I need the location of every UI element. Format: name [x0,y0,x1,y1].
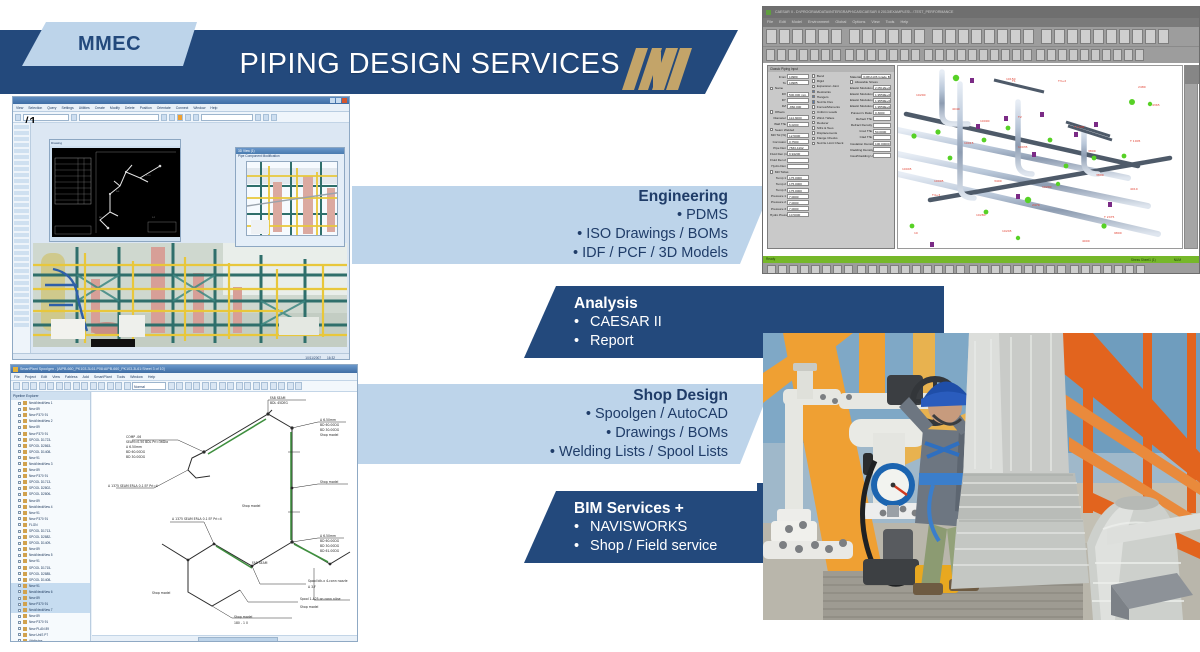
pdms-tree-line[interactable] [14,185,29,189]
pdms-iso-drawing-window[interactable]: Drawing [49,139,181,242]
toolbar-icon[interactable] [1058,49,1067,61]
expand-icon[interactable] [18,542,21,545]
maximize-icon[interactable] [336,98,341,103]
pdms-application-window[interactable]: ViewSelectionQuerySettingsUtilitiesCreat… [12,96,350,360]
checkbox-icon[interactable] [812,137,815,140]
toolbar-icon[interactable] [875,29,886,44]
toolbar-icon[interactable] [227,382,234,390]
pdms-menu-delete[interactable]: Delete [125,104,135,112]
pdms-menu-selection[interactable]: Selection [28,104,42,112]
toolbar-icon[interactable] [1041,29,1052,44]
toolbar-icon[interactable] [1145,29,1156,44]
toolbar-icon[interactable] [1103,265,1112,275]
maximize-icon[interactable] [1178,10,1184,15]
piping-input-field-value[interactable]: 7833.4192 [787,145,809,150]
expand-icon[interactable] [18,499,21,502]
toolbar-icon[interactable] [1067,29,1078,44]
toolbar-icon[interactable] [30,382,37,390]
toolbar-icon[interactable] [193,114,199,121]
expand-icon[interactable] [18,627,21,630]
pdms-tree-line[interactable] [14,191,29,195]
spoolgen-tool-bar[interactable]: Normal [11,381,357,392]
toolbar-icon[interactable] [879,265,888,275]
piping-input-checkbox[interactable]: Nozzle Limit Check [812,141,848,145]
toolbar-icon[interactable] [900,49,909,61]
pdms-menu-utilities[interactable]: Utilities [79,104,90,112]
caesar-title-bar[interactable]: CAESAR II - D:\PROGRAMDATA\INTERGRAPH\CA… [763,7,1199,18]
toolbar-icon[interactable] [1057,265,1066,275]
caesar-ii-application-window[interactable]: CAESAR II - D:\PROGRAMDATA\INTERGRAPH\CA… [762,6,1200,274]
classic-piping-input-dialog[interactable]: Classic Piping Input From10980To10985Nam… [767,65,895,249]
caesar-tool-bar-primary[interactable] [763,27,1199,47]
toolbar-icon[interactable] [1113,49,1122,61]
toolbar-icon[interactable] [255,114,261,121]
caesar-menu-global[interactable]: Global [835,18,846,27]
scrollbar-thumb[interactable] [198,637,278,642]
piping-input-property-column[interactable]: Material(106)A106 Grade BAllowable Stres… [850,74,892,217]
checkbox-icon[interactable] [812,90,815,93]
toolbar-icon[interactable] [1093,29,1104,44]
toolbar-icon[interactable] [868,265,877,275]
expand-icon[interactable] [18,578,21,581]
toolbar-icon[interactable] [1047,49,1056,61]
toolbar-icon[interactable] [766,29,777,44]
toolbar-icon[interactable] [778,265,787,275]
toolbar-icon[interactable] [911,49,920,61]
toolbar-icon[interactable] [1069,49,1078,61]
spoolgen-tree-item[interactable]: Attributes [11,638,90,642]
pdms-3d-model-view[interactable] [33,243,347,347]
caesar-menu-edit[interactable]: Edit [779,18,786,27]
toolbar-icon[interactable] [901,29,912,44]
piping-input-field-value[interactable]: 12.5000 [787,133,809,138]
toolbar-icon[interactable] [818,29,829,44]
toolbar-icon[interactable] [991,265,1000,275]
expand-icon[interactable] [18,511,21,514]
checkbox-icon[interactable] [770,87,773,90]
toolbar-icon[interactable] [261,382,268,390]
toolbar-icon[interactable] [767,265,776,275]
toolbar-icon[interactable] [946,49,955,61]
spoolgen-tree-body[interactable]: NeckNeckNew 1New 89New P370 91NeckNeckNe… [11,400,90,642]
pdms-tree-line[interactable] [14,305,29,309]
piping-input-field-value[interactable]: 10980 [787,74,809,79]
piping-input-field-value[interactable]: 10985 [787,80,809,85]
toolbar-icon[interactable] [971,29,982,44]
toolbar-icon[interactable] [1023,49,1032,61]
toolbar-icon[interactable] [800,265,809,275]
toolbar-icon[interactable] [1135,49,1144,61]
piping-input-field-value[interactable]: 10.5000 [787,212,809,217]
toolbar-icon[interactable] [1046,265,1055,275]
toolbar-icon[interactable] [980,265,989,275]
close-icon[interactable] [1189,10,1195,15]
caesar-tool-bar-secondary[interactable] [763,47,1199,63]
pdms-tree-line[interactable] [14,221,29,225]
toolbar-icon[interactable] [124,382,131,390]
minimize-icon[interactable] [330,98,335,103]
toolbar-icon[interactable] [1132,29,1143,44]
toolbar-icon[interactable] [185,114,191,121]
toolbar-icon[interactable] [56,382,63,390]
pdms-menu-help[interactable]: Help [210,104,217,112]
piping-input-field-value[interactable]: -860.000 mm. [787,104,809,109]
caesar-3d-viewport[interactable]: 1015010200 T1T3+2 24804365 404010090 T2T… [897,65,1183,249]
toolbar-icon[interactable] [924,49,933,61]
pdms-tree-line[interactable] [14,317,29,321]
piping-input-field-value[interactable]: 114.3000 [787,115,809,120]
toolbar-icon[interactable] [831,29,842,44]
expand-icon[interactable] [18,402,21,405]
toolbar-icon[interactable] [1013,265,1022,275]
caesar-bottom-tool-strip[interactable] [763,263,1199,274]
pdms-3d-view-canvas[interactable] [246,161,338,236]
piping-input-field-value[interactable] [873,135,891,140]
toolbar-icon[interactable] [822,265,831,275]
toolbar-icon[interactable] [958,29,969,44]
toolbar-icon[interactable] [1012,49,1021,61]
pdms-explorer-tree[interactable] [13,123,31,360]
toolbar-icon[interactable] [1125,265,1134,275]
toolbar-icon[interactable] [115,382,122,390]
callout-shop-design[interactable]: Shop Design • Spoolgen / AutoCAD • Drawi… [352,384,772,464]
caesar-menu-file[interactable]: File [767,18,773,27]
pdms-tree-line[interactable] [14,209,29,213]
pdms-menu-query[interactable]: Query [47,104,56,112]
expand-icon[interactable] [18,505,21,508]
expand-icon[interactable] [18,432,21,435]
piping-input-field-value[interactable]: 6.0200 [787,122,809,127]
piping-input-field-value[interactable] [873,123,891,128]
expand-icon[interactable] [18,408,21,411]
caesar-menu-help[interactable]: Help [900,18,908,27]
expand-icon[interactable] [18,517,21,520]
piping-input-checkbox[interactable]: Flange Checks [812,136,848,140]
toolbar-icon[interactable] [193,382,200,390]
spoolgen-menu-help[interactable]: Help [148,373,155,381]
toolbar-icon[interactable] [1102,49,1111,61]
toolbar-icon[interactable] [22,382,29,390]
pdms-name-field[interactable] [79,114,159,121]
piping-input-field-value[interactable]: 0.3000 [873,110,891,115]
close-icon[interactable] [342,98,347,103]
checkbox-icon[interactable] [812,121,815,124]
toolbar-icon[interactable] [923,265,932,275]
caesar-menu-environment[interactable]: Environment [808,18,829,27]
toolbar-icon[interactable] [979,49,988,61]
piping-input-checkbox[interactable]: Bend [812,74,848,78]
piping-input-checkbox[interactable]: Wind / Wave [812,116,848,120]
toolbar-icon[interactable] [1024,265,1033,275]
toolbar-icon[interactable] [161,114,167,121]
checkbox-icon[interactable] [770,110,773,113]
toolbar-icon[interactable] [64,382,71,390]
expand-icon[interactable] [18,584,21,587]
expand-icon[interactable] [18,621,21,624]
piping-input-material-value[interactable]: (106)A106 Grade B [861,74,891,79]
toolbar-icon[interactable] [1036,49,1045,61]
pdms-3d-view-titlebar[interactable]: 3D View (1) [236,148,344,154]
toolbar-icon[interactable] [857,265,866,275]
expand-icon[interactable] [18,420,21,423]
expand-icon[interactable] [18,536,21,539]
toolbar-icon[interactable] [107,382,114,390]
toolbar-icon[interactable] [997,29,1008,44]
expand-icon[interactable] [18,438,21,441]
toolbar-icon[interactable] [1080,29,1091,44]
piping-input-field-value[interactable] [873,147,891,152]
toolbar-icon[interactable] [81,382,88,390]
toolbar-icon[interactable] [1091,49,1100,61]
checkbox-icon[interactable] [770,128,773,131]
piping-input-checkbox[interactable]: Nozzle Flex [812,100,848,104]
toolbar-icon[interactable] [244,382,251,390]
toolbar-icon[interactable] [777,49,786,61]
expand-icon[interactable] [18,633,21,636]
toolbar-icon[interactable] [934,265,943,275]
expand-icon[interactable] [18,566,21,569]
checkbox-icon[interactable] [770,170,773,173]
expand-icon[interactable] [18,603,21,606]
toolbar-icon[interactable] [1136,265,1145,275]
toolbar-icon[interactable] [984,29,995,44]
piping-input-field-value[interactable]: 2.0512E+08 [873,85,891,90]
toolbar-icon[interactable] [287,382,294,390]
piping-input-checkbox[interactable]: Seam Welded [770,128,810,132]
checkbox-icon[interactable] [812,74,815,77]
expand-icon[interactable] [18,639,21,642]
toolbar-icon[interactable] [799,49,808,61]
pdms-menu-create[interactable]: Create [95,104,105,112]
checkbox-icon[interactable] [812,95,815,98]
checkbox-icon[interactable] [812,142,815,145]
pdms-tree-line[interactable] [14,263,29,267]
toolbar-icon[interactable] [176,382,183,390]
piping-input-field-value[interactable] [787,164,809,169]
pdms-search-field[interactable] [201,114,253,121]
toolbar-icon[interactable] [1080,49,1089,61]
pdms-menu-modify[interactable]: Modify [110,104,120,112]
pdms-tree-line[interactable] [14,251,29,255]
expand-icon[interactable] [18,597,21,600]
toolbar-icon[interactable] [169,114,175,121]
toolbar-icon[interactable] [202,382,209,390]
toolbar-icon[interactable] [1124,49,1133,61]
piping-input-field-value[interactable] [873,116,891,121]
toolbar-icon[interactable] [98,382,105,390]
toolbar-icon[interactable] [867,49,876,61]
piping-input-field-value[interactable]: 1.9559E+08 [873,92,891,97]
toolbar-icon[interactable] [932,29,943,44]
piping-input-field-value[interactable]: 7.0000 [787,194,809,199]
toolbar-icon[interactable] [1092,265,1101,275]
spoolgen-menu-file[interactable]: File [14,373,20,381]
pdms-tree-line[interactable] [14,233,29,237]
piping-input-field-value[interactable]: 175.0000 [787,181,809,186]
toolbar-icon[interactable] [39,382,46,390]
expand-icon[interactable] [18,548,21,551]
expand-icon[interactable] [18,456,21,459]
toolbar-icon[interactable] [912,265,921,275]
piping-input-checkbox[interactable]: SIFs & Tees [812,126,848,130]
toolbar-icon[interactable] [844,265,853,275]
expand-icon[interactable] [18,609,21,612]
expand-icon[interactable] [18,530,21,533]
toolbar-icon[interactable] [47,382,54,390]
piping-input-field-value[interactable]: 0.7500 [787,139,809,144]
toolbar-icon[interactable] [73,382,80,390]
piping-input-field-value[interactable] [787,158,809,163]
pdms-tree-line[interactable] [14,215,29,219]
toolbar-icon[interactable] [1158,29,1169,44]
toolbar-icon[interactable] [71,114,77,121]
toolbar-icon[interactable] [1070,265,1079,275]
pdms-tree-line[interactable] [14,149,29,153]
spoolgen-menu-smartplant[interactable]: SmartPlant [94,373,112,381]
pdms-iso-window-titlebar[interactable]: Drawing [50,140,180,146]
piping-input-checkbox[interactable]: Forces/Moments [812,105,848,109]
toolbar-icon[interactable] [1119,29,1130,44]
pdms-tree-line[interactable] [14,173,29,177]
toolbar-icon[interactable] [1023,29,1034,44]
toolbar-icon[interactable] [270,382,277,390]
toolbar-icon[interactable] [957,49,966,61]
expand-icon[interactable] [18,475,21,478]
pdms-tree-line[interactable] [14,287,29,291]
pdms-menu-connect[interactable]: Connect [176,104,189,112]
toolbar-icon[interactable] [278,382,285,390]
toolbar-icon[interactable] [271,114,277,121]
pdms-tree-line[interactable] [14,269,29,273]
expand-icon[interactable] [18,426,21,429]
piping-input-field-value[interactable]: 175.0000 [787,188,809,193]
toolbar-icon[interactable] [901,265,910,275]
pdms-tree-line[interactable] [14,125,29,129]
expand-icon[interactable] [18,572,21,575]
toolbar-icon[interactable] [792,29,803,44]
pdms-tree-line[interactable] [14,179,29,183]
pdms-iso-drawing-canvas[interactable]: 1 0 6D-3 SP1-2 [52,148,178,235]
spoolgen-menu-edit[interactable]: Edit [41,373,47,381]
piping-input-field-value[interactable]: 50.0000 [873,129,891,134]
toolbar-icon[interactable] [1114,265,1123,275]
pdms-window-buttons[interactable] [330,98,347,103]
caesar-menu-options[interactable]: Options [852,18,865,27]
pdms-menu-view[interactable]: View [16,104,23,112]
spoolgen-menu-project[interactable]: Project [25,373,36,381]
toolbar-icon[interactable] [935,49,944,61]
piping-input-field-value[interactable]: 500.000 mm. [787,92,809,97]
toolbar-icon[interactable] [90,382,97,390]
pdms-tree-line[interactable] [14,203,29,207]
pdms-tree-line[interactable] [14,131,29,135]
piping-input-field-value[interactable]: 1.9559E+08 [873,98,891,103]
toolbar-icon[interactable] [1054,29,1065,44]
toolbar-icon[interactable] [821,49,830,61]
piping-input-checkbox-column[interactable]: BendRigidExpansion JointRestraintsHanger… [812,74,848,217]
toolbar-icon[interactable] [185,382,192,390]
toolbar-icon[interactable] [845,49,854,61]
pdms-menu-settings[interactable]: Settings [61,104,73,112]
piping-input-field-value[interactable]: 9.94200 [787,151,809,156]
toolbar-icon[interactable] [1001,49,1010,61]
pdms-tool-bar[interactable]: /1-PIPE-PI-08019-bend-HD [13,112,349,123]
toolbar-icon[interactable] [789,265,798,275]
pdms-tree-line[interactable] [14,161,29,165]
caesar-menu-view[interactable]: View [871,18,879,27]
piping-input-checkbox[interactable]: Mill Tol/as [770,170,810,174]
expand-icon[interactable] [18,462,21,465]
caesar-menu-tools[interactable]: Tools [886,18,895,27]
toolbar-icon[interactable] [1081,265,1090,275]
pdms-menu-bar[interactable]: ViewSelectionQuerySettingsUtilitiesCreat… [13,104,349,112]
toolbar-icon[interactable] [1010,29,1021,44]
toolbar-icon[interactable] [990,49,999,61]
checkbox-icon[interactable] [812,126,815,129]
spoolgen-horizontal-scrollbar[interactable] [92,635,357,642]
pdms-tree-line[interactable] [14,275,29,279]
toolbar-icon[interactable] [890,265,899,275]
minimize-icon[interactable] [1167,10,1173,15]
spoolgen-menu-tools[interactable]: Tools [117,373,125,381]
expand-icon[interactable] [18,469,21,472]
piping-input-checkbox[interactable]: Displacements [812,131,848,135]
piping-input-checkbox[interactable]: Rigid [812,79,848,83]
spoolgen-iso-canvas[interactable]: FAB SEAMBDL 45DEG A 6.50mmBD 60.00DG BD … [92,392,357,635]
spoolgen-application-window[interactable]: SmartPlant Spoolgen - [AIPB-660_PK103-3L… [10,364,358,642]
pdms-tree-line[interactable] [14,281,29,285]
piping-input-checkbox[interactable]: Expansion Joint [812,84,848,88]
piping-input-field-value[interactable] [873,153,891,158]
piping-input-checkbox[interactable]: Reducer [812,121,848,125]
spoolgen-title-bar[interactable]: SmartPlant Spoolgen - [AIPB-660_PK103-3L… [11,365,357,373]
spoolgen-pipeline-explorer[interactable]: Pipeline Explorer NeckNeckNew 1New 89New… [11,392,91,642]
spoolgen-menu-add[interactable]: Add [83,373,89,381]
piping-input-field-value[interactable]: 1.9559E+08 [873,104,891,109]
toolbar-icon[interactable] [832,49,841,61]
toolbar-icon[interactable] [766,49,775,61]
toolbar-icon[interactable] [810,49,819,61]
spoolgen-style-combo[interactable]: Normal [132,382,166,390]
pdms-tree-line[interactable] [14,143,29,147]
toolbar-icon-highlight[interactable] [177,114,183,121]
toolbar-icon[interactable] [263,114,269,121]
expand-icon[interactable] [18,487,21,490]
toolbar-icon[interactable] [945,29,956,44]
toolbar-icon[interactable] [849,29,860,44]
spoolgen-menu-view[interactable]: View [52,373,60,381]
pdms-element-field[interactable]: /1-PIPE-PI-08019-bend-HD [23,114,69,121]
piping-input-field-value[interactable]: 100.00000 [873,141,891,146]
toolbar-icon[interactable] [968,49,977,61]
toolbar-icon[interactable] [956,265,965,275]
pdms-tree-line[interactable] [14,155,29,159]
toolbar-icon[interactable] [788,49,797,61]
piping-input-field-value[interactable]: 175.0000 [787,175,809,180]
toolbar-icon[interactable] [889,49,898,61]
toolbar-icon[interactable] [914,29,925,44]
pdms-title-bar[interactable] [13,97,349,104]
pdms-menu-position[interactable]: Position [140,104,152,112]
checkbox-icon[interactable] [850,80,853,83]
toolbar-icon[interactable] [13,382,20,390]
pdms-3d-view-window[interactable]: 3D View (1) Pipe Component Modification [235,147,345,247]
pdms-tree-line[interactable] [14,323,29,327]
toolbar-icon[interactable] [168,382,175,390]
toolbar-icon[interactable] [945,265,954,275]
piping-input-checkbox[interactable]: Offsets [770,110,810,114]
expand-icon[interactable] [18,523,21,526]
